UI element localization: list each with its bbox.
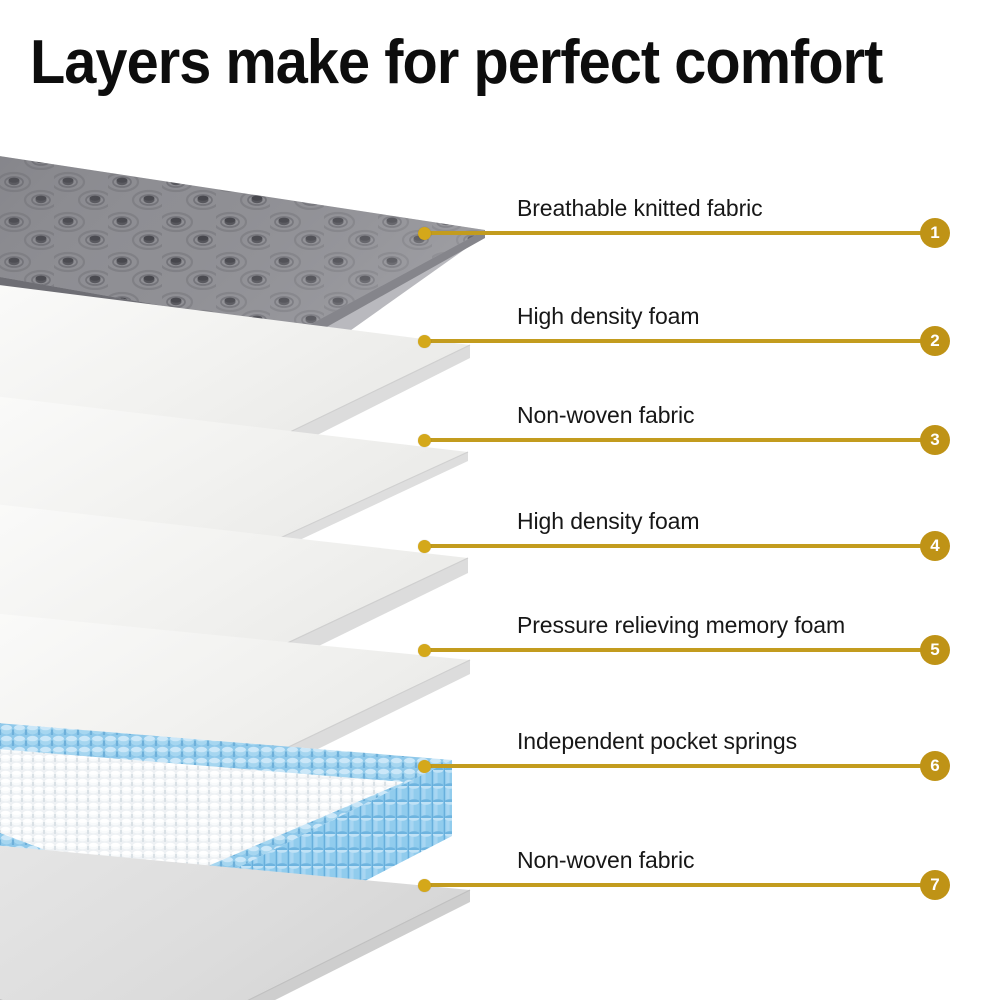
callout-4-line xyxy=(424,544,932,548)
callout-7-line xyxy=(424,883,932,887)
layer-stack-graphic xyxy=(0,130,1000,1000)
page-title: Layers make for perfect comfort xyxy=(30,28,914,98)
exploded-mattress-diagram xyxy=(0,130,1000,1000)
callout-7-anchor-dot xyxy=(418,879,431,892)
callout-6-label: Independent pocket springs xyxy=(517,728,797,755)
callout-1-badge[interactable]: 1 xyxy=(920,218,950,248)
callout-1-anchor-dot xyxy=(418,227,431,240)
callout-2-anchor-dot xyxy=(418,335,431,348)
callout-3-anchor-dot xyxy=(418,434,431,447)
callout-1-label: Breathable knitted fabric xyxy=(517,195,763,222)
callout-5-label: Pressure relieving memory foam xyxy=(517,612,845,639)
callout-2-line xyxy=(424,339,932,343)
callout-3-badge[interactable]: 3 xyxy=(920,425,950,455)
callout-5-badge[interactable]: 5 xyxy=(920,635,950,665)
callout-2-badge[interactable]: 2 xyxy=(920,326,950,356)
callout-4-anchor-dot xyxy=(418,540,431,553)
mattress-layers-infographic: Layers make for perfect comfort xyxy=(0,0,1000,1000)
callout-2-label: High density foam xyxy=(517,303,699,330)
callout-5-line xyxy=(424,648,932,652)
callout-3-label: Non-woven fabric xyxy=(517,402,694,429)
callout-6-badge[interactable]: 6 xyxy=(920,751,950,781)
callout-1-line xyxy=(424,231,932,235)
callout-7-label: Non-woven fabric xyxy=(517,847,694,874)
callout-4-label: High density foam xyxy=(517,508,699,535)
callout-6-line xyxy=(424,764,932,768)
callout-5-anchor-dot xyxy=(418,644,431,657)
callout-6-anchor-dot xyxy=(418,760,431,773)
callout-3-line xyxy=(424,438,932,442)
callout-7-badge[interactable]: 7 xyxy=(920,870,950,900)
callout-4-badge[interactable]: 4 xyxy=(920,531,950,561)
